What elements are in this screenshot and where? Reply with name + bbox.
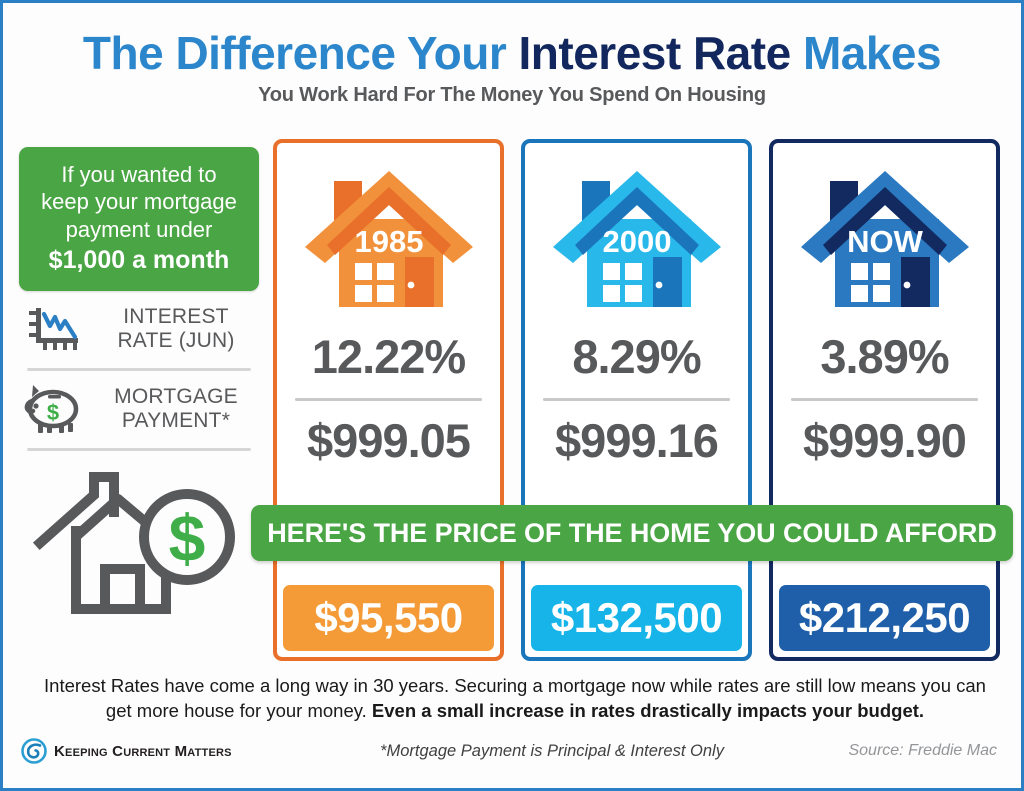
legend-label-mortgage-payment: MORTGAGE PAYMENT* xyxy=(97,385,255,433)
legend-row-interest-rate: INTEREST RATE (JUN) xyxy=(19,291,259,368)
title-segment-1: The Difference Your xyxy=(83,27,519,79)
home-price-value-2000[interactable]: $132,500 xyxy=(531,585,742,651)
card-divider-now xyxy=(791,398,978,401)
callout-line-1: If you wanted to xyxy=(29,161,249,188)
legend-row-mortgage-payment: $ MORTGAGE PAYMENT* xyxy=(19,371,259,448)
kcm-spiral-logo-icon xyxy=(21,738,47,764)
header: The Difference Your Interest Rate Makes … xyxy=(3,29,1021,107)
legend-divider-2 xyxy=(27,448,251,451)
brand-logo-text: Keeping Current Matters xyxy=(54,743,232,760)
mortgage-budget-callout: If you wanted to keep your mortgage paym… xyxy=(19,147,259,291)
footnote-bold: Even a small increase in rates drastical… xyxy=(372,700,924,721)
house-icon-now: NOW xyxy=(773,143,996,333)
footer-source: Source: Freddie Mac xyxy=(793,742,1003,760)
home-price-value-1985[interactable]: $95,550 xyxy=(283,585,494,651)
mortgage-payment-value-1985: $999.05 xyxy=(277,413,500,468)
legend-label-mortgage-payment-line1: MORTGAGE xyxy=(97,385,255,409)
line-chart-declining-icon xyxy=(23,304,85,354)
house-year-label-2000: 2000 xyxy=(603,224,672,259)
svg-text:$: $ xyxy=(47,400,59,425)
comparison-card-now[interactable]: NOW 3.89% $999.90 $212,250 xyxy=(769,139,1000,661)
callout-line-3: payment under xyxy=(29,216,249,243)
interest-rate-value-now: 3.89% xyxy=(773,329,996,384)
page-title: The Difference Your Interest Rate Makes xyxy=(3,29,1021,77)
legend-label-interest-rate: INTEREST RATE (JUN) xyxy=(97,305,255,353)
legend-label-mortgage-payment-line2: PAYMENT* xyxy=(97,409,255,433)
footnote-text: Interest Rates have come a long way in 3… xyxy=(31,674,999,724)
interest-rate-value-2000: 8.29% xyxy=(525,329,748,384)
price-banner: HERE'S THE PRICE OF THE HOME YOU COULD A… xyxy=(251,505,1013,561)
footer-disclaimer: *Mortgage Payment is Principal & Interes… xyxy=(311,742,793,761)
legend-label-interest-rate-line1: INTEREST xyxy=(97,305,255,329)
interest-rate-value-1985: 12.22% xyxy=(277,329,500,384)
house-icon-2000: 2000 xyxy=(525,143,748,333)
infographic-root: The Difference Your Interest Rate Makes … xyxy=(0,0,1024,791)
house-icon-1985: 1985 xyxy=(277,143,500,333)
house-year-label-1985: 1985 xyxy=(355,224,424,259)
svg-text:$: $ xyxy=(168,501,205,575)
house-with-dollar-icon: $ xyxy=(19,469,259,619)
card-divider-1985 xyxy=(295,398,482,401)
mortgage-payment-value-now: $999.90 xyxy=(773,413,996,468)
callout-emphasis: $1,000 a month xyxy=(29,246,249,275)
mortgage-payment-value-2000: $999.16 xyxy=(525,413,748,468)
card-divider-2000 xyxy=(543,398,730,401)
title-segment-3: Makes xyxy=(791,27,941,79)
left-panel: If you wanted to keep your mortgage paym… xyxy=(19,147,259,619)
brand-logo[interactable]: Keeping Current Matters xyxy=(21,738,311,764)
page-subtitle: You Work Hard For The Money You Spend On… xyxy=(3,84,1021,107)
comparison-card-2000[interactable]: 2000 8.29% $999.16 $132,500 xyxy=(521,139,752,661)
house-year-label-now: NOW xyxy=(847,224,924,259)
piggy-bank-icon: $ xyxy=(23,383,85,435)
callout-line-2: keep your mortgage xyxy=(29,188,249,215)
footer: Keeping Current Matters *Mortgage Paymen… xyxy=(21,738,1003,764)
legend-label-interest-rate-line2: RATE (JUN) xyxy=(97,329,255,353)
title-segment-2: Interest Rate xyxy=(519,27,791,79)
comparison-card-1985[interactable]: 1985 12.22% $999.05 $95,550 xyxy=(273,139,504,661)
home-price-value-now[interactable]: $212,250 xyxy=(779,585,990,651)
